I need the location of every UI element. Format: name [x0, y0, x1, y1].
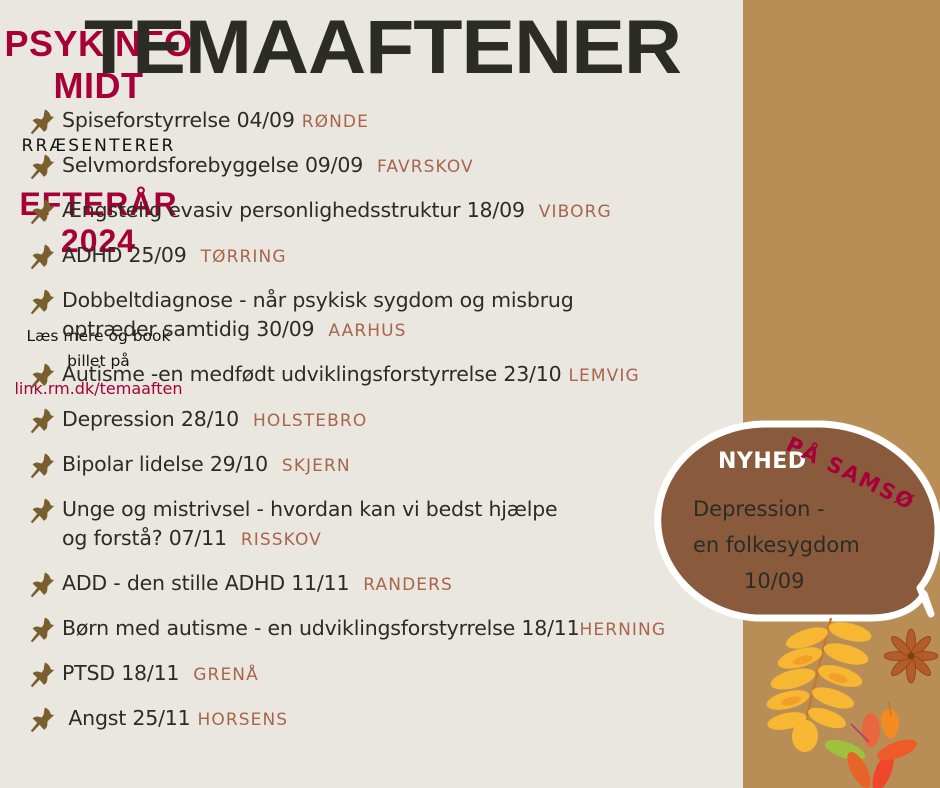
event-title: Spiseforstyrrelse 04/09 — [62, 108, 295, 132]
event-text: Autisme -en medfødt udviklingsforstyrrel… — [62, 360, 640, 391]
event-city: LEMVIG — [568, 366, 639, 386]
event-city: VIBORG — [539, 202, 612, 222]
event-title: Selvmordsforebyggelse 09/09 — [62, 153, 363, 177]
pushpin-icon — [28, 406, 56, 436]
event-title: Autisme -en medfødt udviklingsforstyrrel… — [62, 362, 561, 386]
event-text: Selvmordsforebyggelse 09/09FAVRSKOV — [62, 151, 474, 182]
event-text: ADD - den stille ADHD 11/11RANDERS — [62, 569, 453, 600]
event-city: HORSENS — [197, 710, 288, 730]
pushpin-icon — [28, 152, 56, 182]
event-title: Angst 25/11 — [62, 706, 190, 730]
event-row[interactable]: Selvmordsforebyggelse 09/09FAVRSKOV — [28, 151, 743, 182]
event-row[interactable]: Børn med autisme - en udviklingsforstyrr… — [28, 614, 743, 645]
event-city: TØRRING — [201, 247, 287, 267]
event-city: RØNDE — [302, 112, 369, 132]
bubble-line1: Depression - — [693, 494, 825, 524]
event-text: Børn med autisme - en udviklingsforstyrr… — [62, 614, 666, 645]
pushpin-icon — [28, 197, 56, 227]
event-city: AARHUS — [328, 321, 406, 341]
event-title: Børn med autisme - en udviklingsforstyrr… — [62, 616, 579, 640]
event-row[interactable]: Depression 28/10HOLSTEBRO — [28, 405, 743, 436]
pushpin-icon — [28, 107, 56, 137]
event-city: SKJERN — [282, 456, 351, 476]
event-text: Angst 25/11HORSENS — [62, 704, 288, 735]
sidebar-panel — [743, 0, 940, 788]
event-row[interactable]: ADHD 25/09TØRRING — [28, 241, 743, 272]
event-row[interactable]: Ængstelig evasiv personlighedsstruktur 1… — [28, 196, 743, 227]
event-row[interactable]: PTSD 18/11GRENÅ — [28, 659, 743, 690]
event-text: Unge og mistrivsel - hvordan kan vi beds… — [62, 495, 557, 555]
page-title: TEMAAFTENER — [84, 6, 681, 90]
event-city: HOLSTEBRO — [253, 411, 367, 431]
pushpin-icon — [28, 451, 56, 481]
event-list: Spiseforstyrrelse 04/09RØNDESelvmordsfor… — [28, 106, 743, 749]
pushpin-icon — [28, 705, 56, 735]
event-row[interactable]: Bipolar lidelse 29/10SKJERN — [28, 450, 743, 481]
pushpin-icon — [28, 570, 56, 600]
bubble-date: 10/09 — [744, 566, 805, 596]
event-row[interactable]: Spiseforstyrrelse 04/09RØNDE — [28, 106, 743, 137]
event-text: ADHD 25/09TØRRING — [62, 241, 287, 272]
pushpin-icon — [28, 287, 56, 317]
event-city: RANDERS — [363, 575, 453, 595]
event-city: GRENÅ — [193, 665, 259, 685]
bubble-line2: en folkesygdom — [693, 530, 860, 560]
poster-canvas: PSYKINFO MIDT RRÆSENTERER EFTERÅR 2024 L… — [0, 0, 940, 788]
event-text: PTSD 18/11GRENÅ — [62, 659, 259, 690]
pushpin-icon — [28, 496, 56, 526]
event-text: Depression 28/10HOLSTEBRO — [62, 405, 367, 436]
event-row[interactable]: Unge og mistrivsel - hvordan kan vi beds… — [28, 495, 743, 555]
pushpin-icon — [28, 242, 56, 272]
event-text: Ængstelig evasiv personlighedsstruktur 1… — [62, 196, 612, 227]
event-title: ADHD 25/09 — [62, 243, 187, 267]
event-title: Bipolar lidelse 29/10 — [62, 452, 268, 476]
event-title: PTSD 18/11 — [62, 661, 179, 685]
event-city: FAVRSKOV — [377, 157, 474, 177]
event-title: Ængstelig evasiv personlighedsstruktur 1… — [62, 198, 525, 222]
pushpin-icon — [28, 361, 56, 391]
event-row[interactable]: Angst 25/11HORSENS — [28, 704, 743, 735]
event-row[interactable]: ADD - den stille ADHD 11/11RANDERS — [28, 569, 743, 600]
event-text: Spiseforstyrrelse 04/09RØNDE — [62, 106, 369, 137]
event-city: RISSKOV — [241, 530, 322, 550]
event-title: Depression 28/10 — [62, 407, 239, 431]
event-text: Dobbeltdiagnose - når psykisk sygdom og … — [62, 286, 574, 346]
event-title: Dobbeltdiagnose - når psykisk sygdom og … — [62, 288, 574, 341]
pushpin-icon — [28, 615, 56, 645]
event-title: ADD - den stille ADHD 11/11 — [62, 571, 349, 595]
event-text: Bipolar lidelse 29/10SKJERN — [62, 450, 351, 481]
pushpin-icon — [28, 660, 56, 690]
event-row[interactable]: Autisme -en medfødt udviklingsforstyrrel… — [28, 360, 743, 391]
event-row[interactable]: Dobbeltdiagnose - når psykisk sygdom og … — [28, 286, 743, 346]
